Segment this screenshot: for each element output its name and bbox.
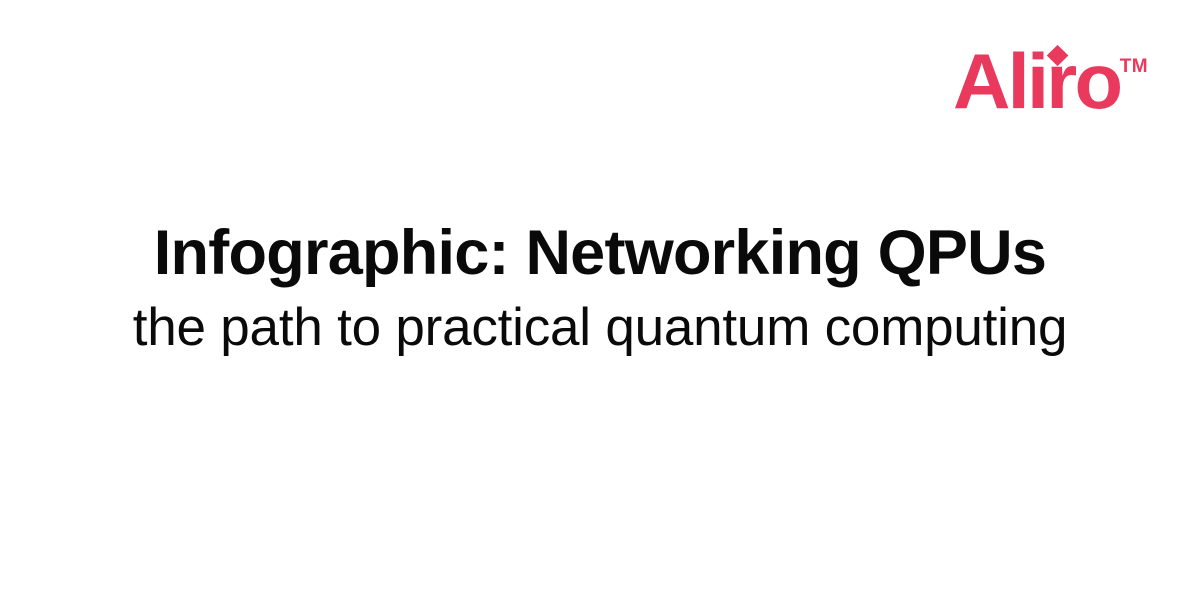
aliro-logo: Aliro TM (953, 44, 1148, 118)
logo-wordmark-text: Aliro (953, 37, 1120, 125)
logo-trademark: TM (1120, 56, 1148, 78)
logo-wordmark: Aliro (953, 44, 1120, 118)
title-card: Aliro TM Infographic: Networking QPUs th… (0, 0, 1200, 610)
page-title: Infographic: Networking QPUs (0, 218, 1200, 289)
headline-block: Infographic: Networking QPUs the path to… (0, 218, 1200, 359)
page-subtitle: the path to practical quantum computing (0, 297, 1200, 360)
